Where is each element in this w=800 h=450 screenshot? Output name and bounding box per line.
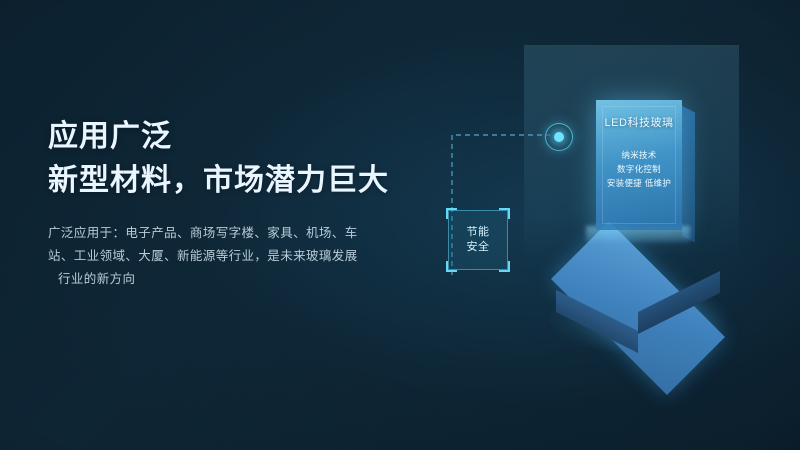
description-text: 广泛应用于：电子产品、商场写字楼、家具、机场、车 站、工业领域、大厦、新能源等行… <box>48 222 378 291</box>
product-illustration: LED科技玻璃 纳米技术 数字化控制 安装便捷 低维护 <box>520 40 780 320</box>
headline-line-2: 新型材料，市场潜力巨大 <box>48 159 389 203</box>
badge-label-line-1: 节能 <box>467 225 490 240</box>
product-feature-0: 纳米技术 <box>596 148 682 162</box>
badge-corner-top-left-icon <box>446 208 457 219</box>
description-line-1: 广泛应用于：电子产品、商场写字楼、家具、机场、车 <box>48 222 378 245</box>
page-title: 应用广泛 新型材料，市场潜力巨大 <box>48 115 389 203</box>
headline-line-1: 应用广泛 <box>48 120 172 153</box>
description-line-2: 站、工业领域、大厦、新能源等行业，是未来玻璃发展 <box>48 245 378 268</box>
product-feature-2: 安装便捷 低维护 <box>596 176 682 190</box>
feature-badge[interactable]: 节能 安全 <box>448 210 508 270</box>
badge-label-line-2: 安全 <box>467 240 490 255</box>
product-feature-list: 纳米技术 数字化控制 安装便捷 低维护 <box>596 148 682 190</box>
description-line-3: 行业的新方向 <box>48 268 378 291</box>
glass-panel: LED科技玻璃 纳米技术 数字化控制 安装便捷 低维护 <box>596 100 682 230</box>
slide-canvas: 应用广泛 新型材料，市场潜力巨大 广泛应用于：电子产品、商场写字楼、家具、机场、… <box>0 0 800 450</box>
badge-corner-bottom-right-icon <box>499 261 510 272</box>
product-title: LED科技玻璃 <box>596 114 682 130</box>
glass-panel-side-face <box>682 106 695 243</box>
badge-corner-bottom-left-icon <box>446 261 457 272</box>
badge-corner-top-right-icon <box>499 208 510 219</box>
product-feature-1: 数字化控制 <box>596 162 682 176</box>
